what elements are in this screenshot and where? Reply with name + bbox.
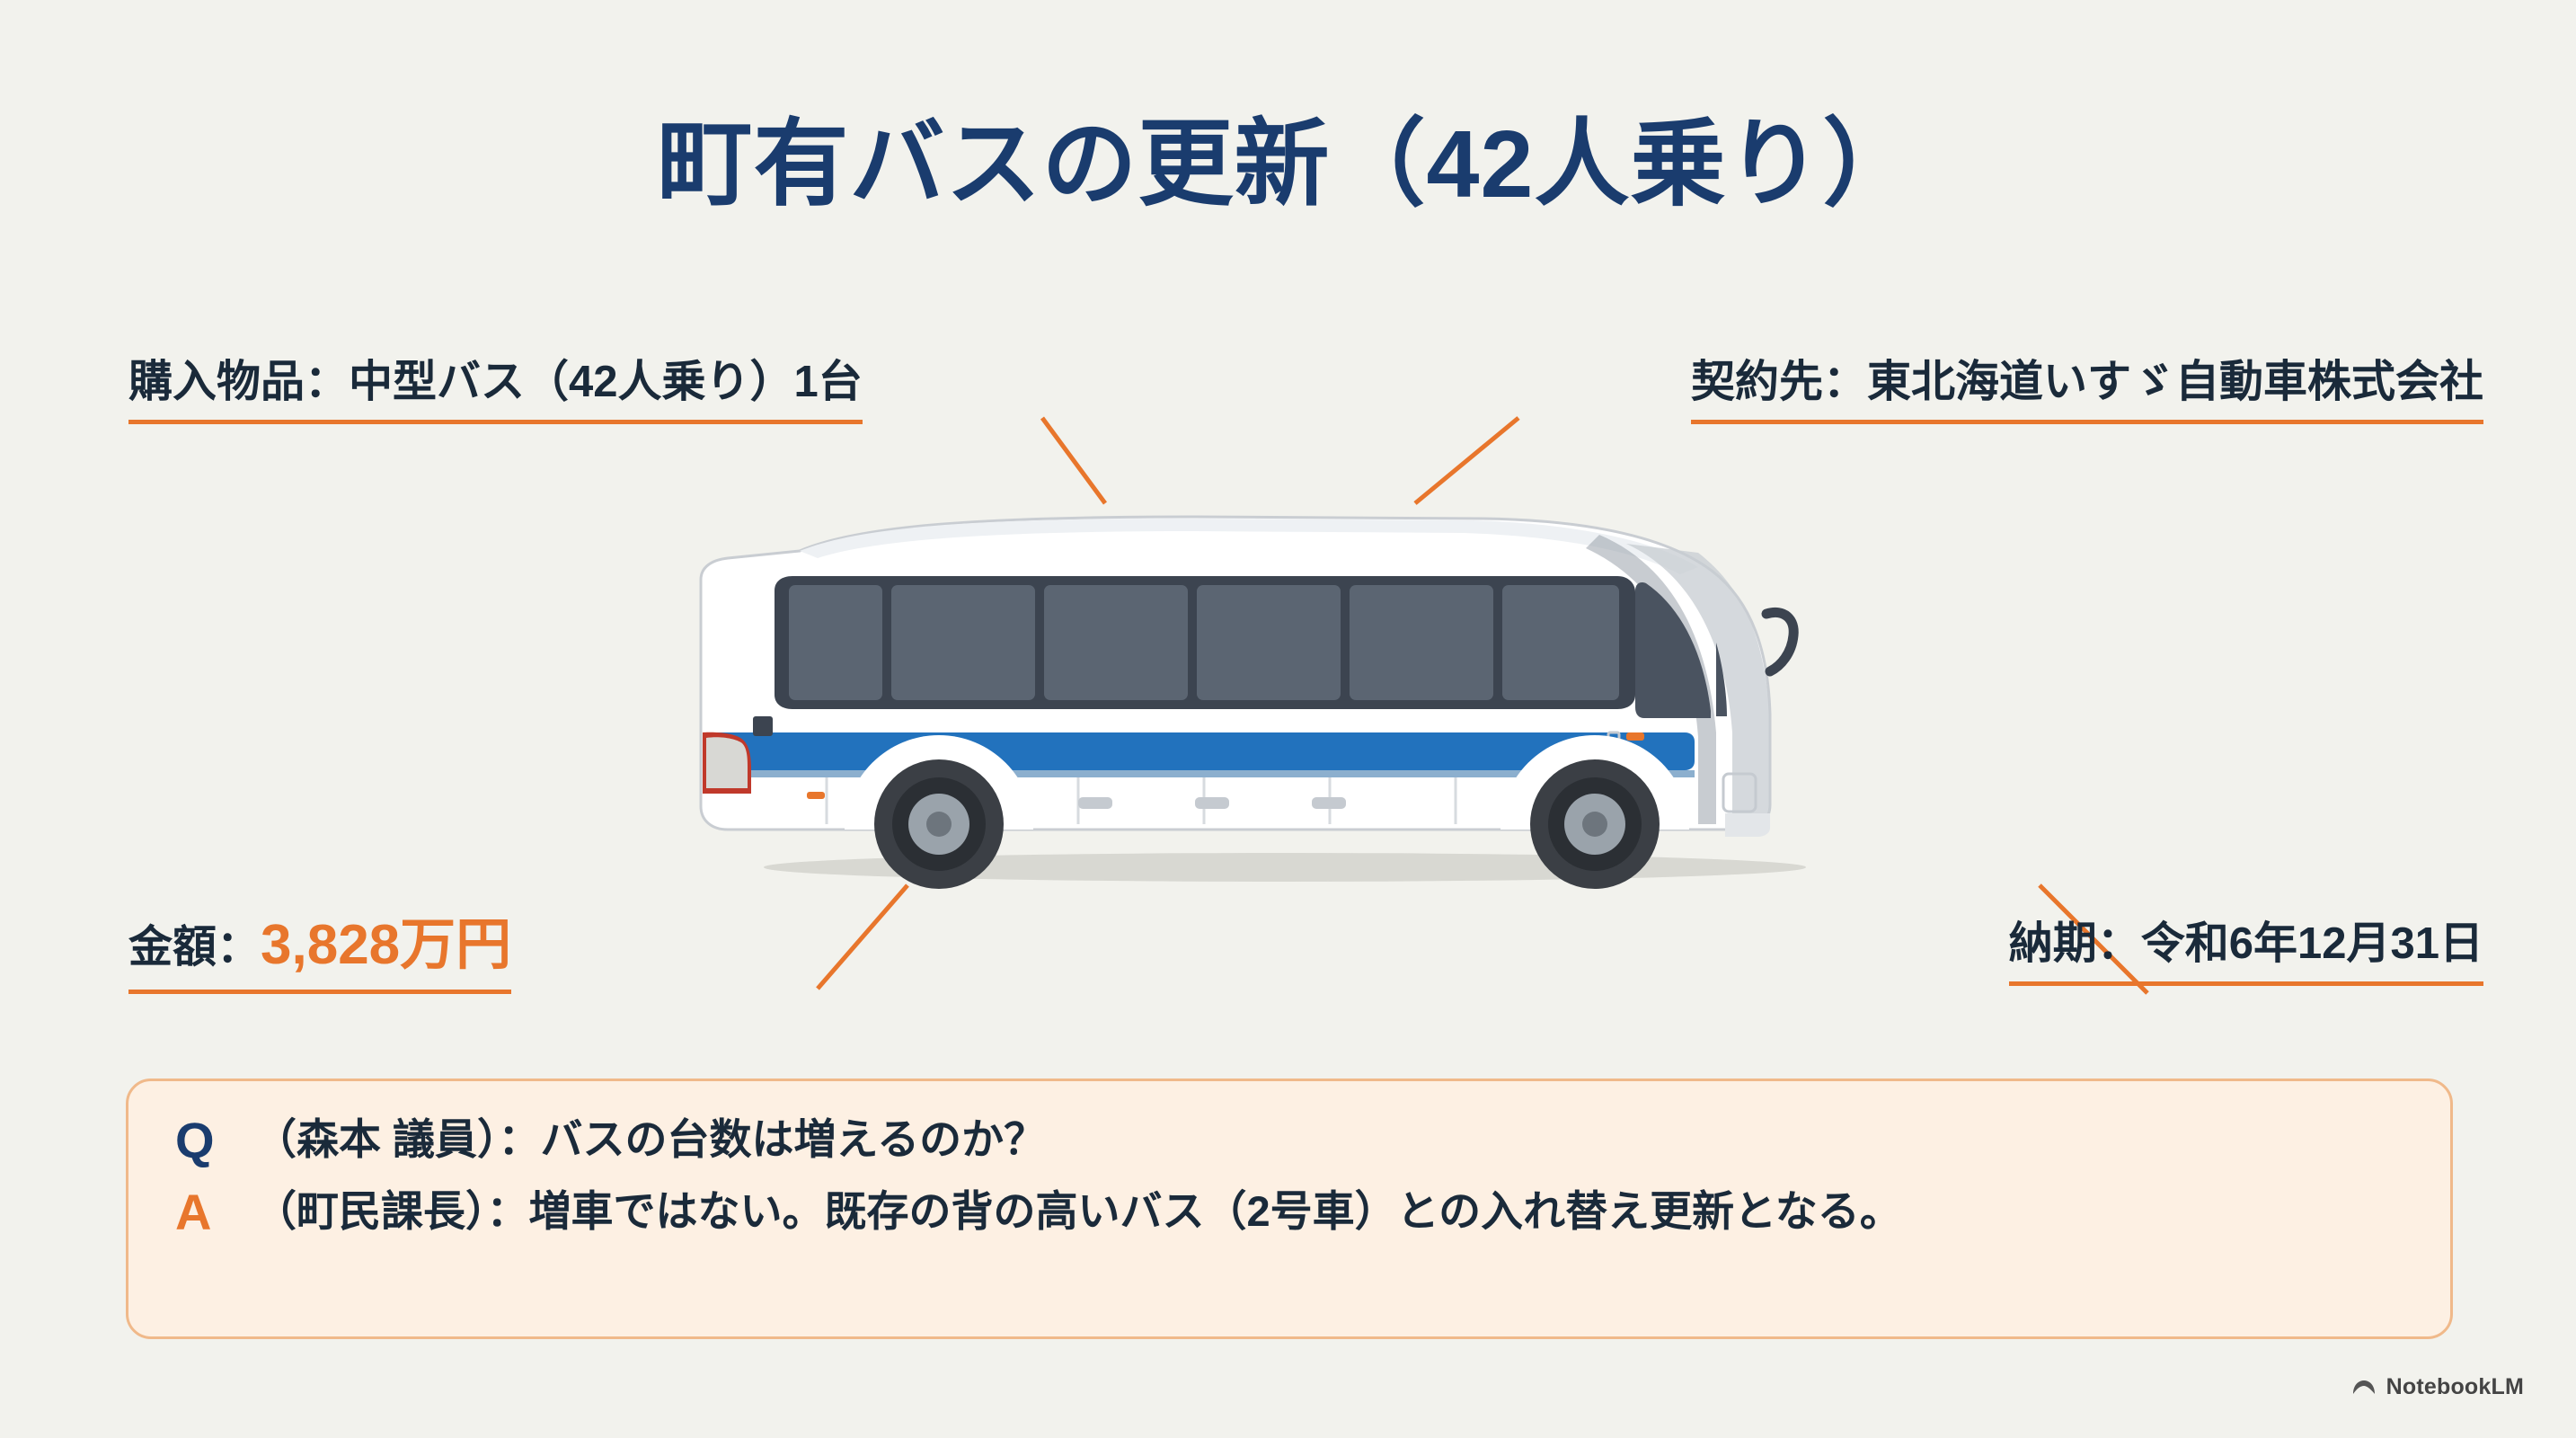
notebooklm-icon: [2350, 1378, 2377, 1398]
callout-contractor-label: 契約先：東北海道いすゞ自動車株式会社: [1691, 358, 2483, 406]
slide-canvas: 町有バスの更新（42人乗り） 購入物品：中型バス（42人乗り）1台 契約先：東北…: [0, 0, 2576, 1438]
callout-purchase-item-label: 購入物品：中型バス（42人乗り）1台: [128, 358, 863, 406]
callout-purchase-item: 購入物品：中型バス（42人乗り）1台: [128, 346, 863, 424]
qa-answer-row: A （町民課長）：増車ではない。既存の背の高いバス（2号車）との入れ替え更新とな…: [175, 1187, 2403, 1238]
bus-svg: [692, 508, 1887, 894]
page-title: 町有バスの更新（42人乗り）: [0, 86, 2576, 225]
qa-question-marker: Q: [175, 1115, 254, 1166]
qa-question-text: （森本 議員）：バスの台数は増えるのか？: [254, 1115, 1046, 1164]
qa-answer-marker: A: [175, 1187, 254, 1238]
callout-underline: [1691, 420, 2483, 424]
callout-underline: [128, 990, 511, 994]
qa-answer-text: （町民課長）：増車ではない。既存の背の高いバス（2号車）との入れ替え更新となる。: [254, 1187, 1902, 1236]
callout-delivery-date-label: 納期：令和6年12月31日: [2009, 919, 2483, 968]
callout-delivery-date: 納期：令和6年12月31日: [2009, 908, 2483, 986]
callout-amount: 金額：3,828万円: [128, 899, 511, 994]
callout-amount-prefix: 金額：: [128, 923, 261, 972]
callout-contractor: 契約先：東北海道いすゞ自動車株式会社: [1691, 346, 2483, 424]
brand-footer: NotebookLM: [2350, 1374, 2524, 1400]
qa-question-row: Q （森本 議員）：バスの台数は増えるのか？: [175, 1115, 2403, 1166]
brand-label: NotebookLM: [2386, 1374, 2524, 1400]
qa-panel: Q （森本 議員）：バスの台数は増えるのか？ A （町民課長）：増車ではない。既…: [126, 1078, 2453, 1339]
callout-underline: [2009, 981, 2483, 986]
bus-illustration: [692, 508, 1887, 894]
callout-amount-value: 3,828万円: [261, 914, 511, 976]
callout-underline: [128, 420, 863, 424]
